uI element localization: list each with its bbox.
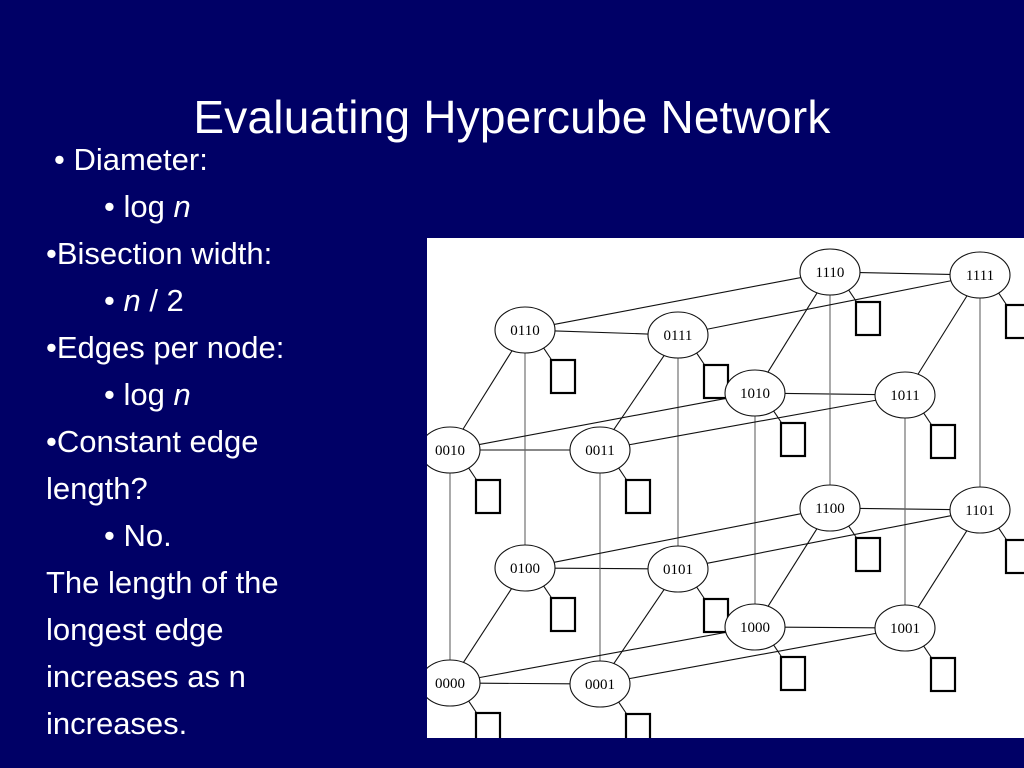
hypercube-node: 1011	[875, 372, 935, 418]
processor-box	[551, 598, 575, 631]
hypercube-edge	[463, 589, 511, 663]
hypercube-node: 1110	[800, 249, 860, 295]
node-label: 1011	[890, 388, 919, 404]
hypercube-node: 0100	[495, 545, 555, 591]
processor-box	[931, 425, 955, 458]
hypercube-node: 0111	[648, 312, 708, 358]
hypercube-node: 0101	[648, 546, 708, 592]
node-label: 0001	[585, 677, 615, 693]
hypercube-edge	[918, 296, 967, 375]
hypercube-node: 1010	[725, 370, 785, 416]
node-label: 1100	[815, 501, 844, 517]
bullet-text: log	[123, 377, 173, 412]
node-label: 0000	[435, 676, 465, 692]
explanation-line-4: increases.	[46, 700, 426, 747]
node-label: 0110	[510, 323, 539, 339]
processor-box	[704, 365, 728, 398]
bullet-edges-value: log n	[46, 371, 426, 418]
hypercube-node: 0001	[570, 661, 630, 707]
hypercube-node: 0110	[495, 307, 555, 353]
processor-box	[1006, 305, 1024, 338]
processor-box	[931, 658, 955, 691]
node-layer: 0110011111101111001000111010101101000101…	[427, 249, 1010, 707]
bullet-list: Diameter: log n Bisection width: n / 2 E…	[46, 136, 426, 747]
hypercube-node: 1111	[950, 252, 1010, 298]
hypercube-edge	[918, 531, 967, 608]
node-label: 0010	[435, 443, 465, 459]
processor-box	[781, 423, 805, 456]
bullet-text: No.	[123, 518, 171, 553]
processor-box	[856, 302, 880, 335]
hypercube-node: 1100	[800, 485, 860, 531]
node-label: 1101	[965, 503, 994, 519]
hypercube-edge	[555, 331, 648, 334]
bullet-text: log	[123, 189, 173, 224]
explanation-line-2: longest edge	[46, 606, 426, 653]
bullet-answer-no: No.	[46, 512, 426, 559]
bullet-bisection-value: n / 2	[46, 277, 426, 324]
node-label: 0111	[664, 328, 693, 344]
node-label: 0011	[585, 443, 614, 459]
hypercube-node: 1101	[950, 487, 1010, 533]
presentation-slide: Evaluating Hypercube Network Diameter: l…	[0, 0, 1024, 768]
hypercube-edge	[860, 273, 950, 275]
processor-box	[626, 714, 650, 738]
hypercube-network-diagram: 0110011111101111001000111010101101000101…	[427, 238, 1024, 738]
processor-box	[551, 360, 575, 393]
bullet-text-italic: n	[173, 189, 190, 224]
hypercube-edge	[768, 293, 817, 372]
node-label: 1010	[740, 386, 770, 402]
hypercube-node: 0011	[570, 427, 630, 473]
bullet-bisection-width: Bisection width:	[46, 230, 426, 277]
hypercube-edge	[614, 589, 664, 663]
node-label: 1001	[890, 621, 920, 637]
bullet-text: Bisection width:	[57, 236, 272, 271]
bullet-text-italic: n	[123, 283, 140, 318]
bullet-edges-per-node: Edges per node:	[46, 324, 426, 371]
processor-box	[1006, 540, 1024, 573]
explanation-line-1: The length of the	[46, 559, 426, 606]
processor-box	[626, 480, 650, 513]
node-label: 1110	[816, 265, 845, 281]
hypercube-node: 1000	[725, 604, 785, 650]
processor-box	[856, 538, 880, 571]
bullet-text: Diameter:	[73, 142, 207, 177]
bullet-text: / 2	[141, 283, 184, 318]
bullet-constant-edge-length: Constant edge	[46, 418, 426, 465]
processor-box	[476, 480, 500, 513]
hypercube-edge	[480, 683, 570, 684]
bullet-text: Constant edge	[57, 424, 259, 459]
explanation-line-3: increases as n	[46, 653, 426, 700]
bullet-diameter: Diameter:	[46, 136, 426, 183]
node-label: 0100	[510, 561, 540, 577]
node-label: 0101	[663, 562, 693, 578]
hypercube-diagram-panel: 0110011111101111001000111010101101000101…	[427, 238, 1024, 738]
node-label: 1000	[740, 620, 770, 636]
node-stub-layer	[469, 290, 1008, 716]
processor-box	[476, 713, 500, 738]
bullet-text-italic: n	[173, 377, 190, 412]
hypercube-edge	[785, 627, 875, 628]
bullet-diameter-value: log n	[46, 183, 426, 230]
bullet-text: Edges per node:	[57, 330, 285, 365]
processor-box-layer	[476, 302, 1024, 738]
hypercube-node: 0000	[427, 660, 480, 706]
processor-box	[704, 599, 728, 632]
processor-box	[781, 657, 805, 690]
bullet-constant-edge-length-cont: length?	[46, 465, 426, 512]
hypercube-node: 1001	[875, 605, 935, 651]
hypercube-edge	[555, 568, 648, 569]
hypercube-node: 0010	[427, 427, 480, 473]
hypercube-edge	[463, 351, 512, 430]
hypercube-edge	[768, 529, 817, 607]
node-label: 1111	[966, 268, 994, 284]
